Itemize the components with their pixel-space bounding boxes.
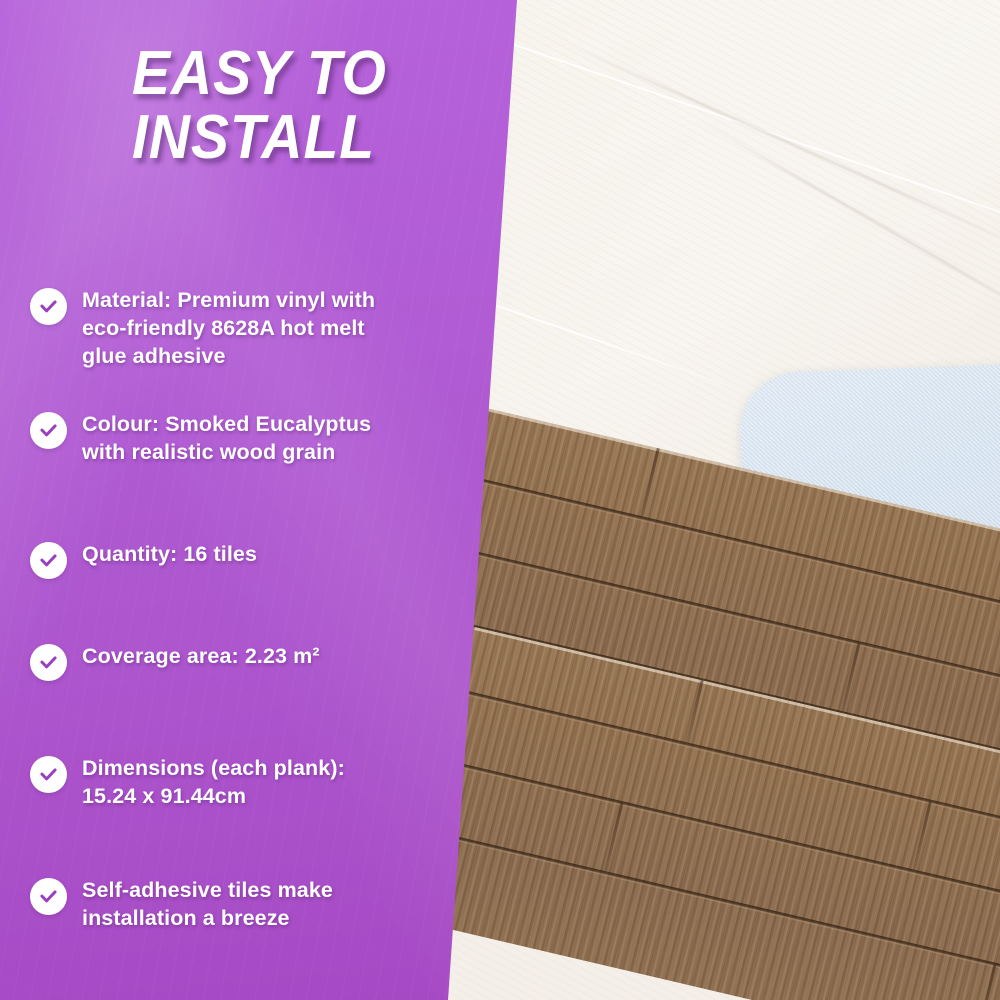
check-circle-icon (30, 756, 67, 793)
feature-item-quantity: Quantity: 16 tiles (30, 541, 390, 579)
check-circle-icon (30, 644, 67, 681)
feature-label: Coverage area: 2.23 m² (82, 643, 320, 671)
product-feature-image: Easy to Install Material: Premium vinyl … (0, 0, 1000, 1000)
check-circle-icon (30, 412, 67, 449)
feature-label: Material: Premium vinyl with eco-friendl… (82, 287, 382, 371)
check-circle-icon (30, 878, 67, 915)
feature-item-material: Material: Premium vinyl with eco-friendl… (30, 287, 390, 371)
feature-label: Self-adhesive tiles make installation a … (82, 877, 382, 933)
check-circle-icon (30, 288, 67, 325)
feature-label: Colour: Smoked Eucalyptus with realistic… (82, 411, 382, 467)
feature-item-dimensions: Dimensions (each plank): 15.24 x 91.44cm (30, 755, 390, 811)
feature-item-coverage-area: Coverage area: 2.23 m² (30, 643, 390, 681)
panel-content: Easy to Install Material: Premium vinyl … (0, 0, 540, 1000)
feature-label: Dimensions (each plank): 15.24 x 91.44cm (82, 755, 382, 811)
feature-label: Quantity: 16 tiles (82, 541, 257, 569)
check-circle-icon (30, 542, 67, 579)
feature-list: Material: Premium vinyl with eco-friendl… (0, 0, 540, 1000)
feature-item-colour: Colour: Smoked Eucalyptus with realistic… (30, 411, 390, 467)
feature-item-self-adhesive: Self-adhesive tiles make installation a … (30, 877, 390, 933)
